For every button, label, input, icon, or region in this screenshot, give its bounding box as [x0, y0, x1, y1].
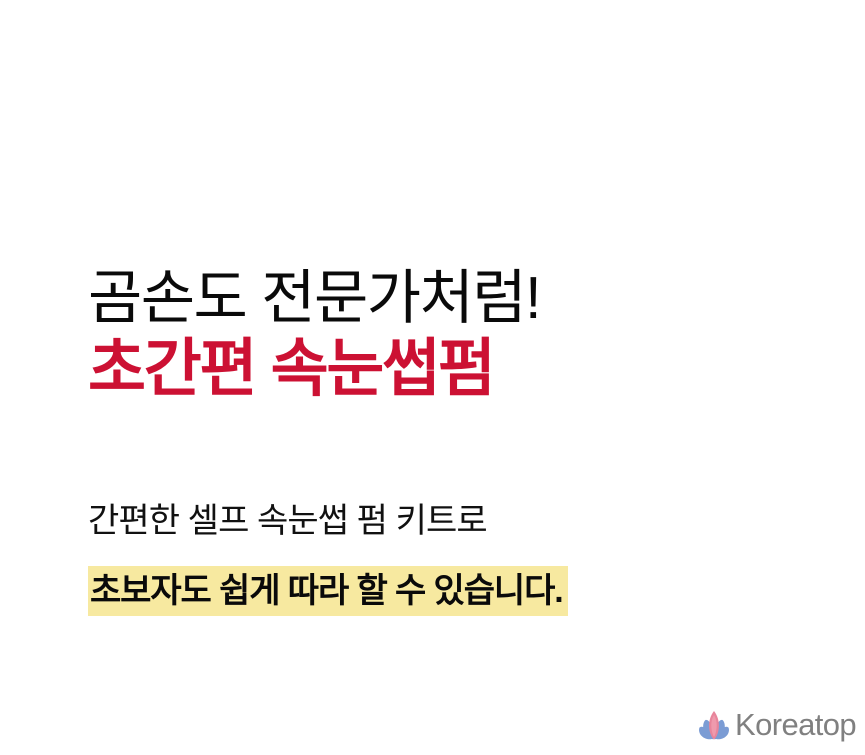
subtitle-line-1: 간편한 셀프 속눈썹 펌 키트로: [88, 500, 788, 543]
promo-canvas: 곰손도 전문가처럼! 초간편 속눈썹펌 간편한 셀프 속눈썹 펌 키트로 초보자…: [0, 0, 865, 755]
headline-line-1: 곰손도 전문가처럼!: [88, 268, 788, 328]
headline-block: 곰손도 전문가처럼! 초간편 속눈썹펌: [88, 268, 788, 403]
subtitle-line-2-wrapper: 초보자도 쉽게 따라 할 수 있습니다.: [88, 566, 788, 616]
footer-brand-logo: Koreatop: [697, 709, 856, 741]
subtitle-line-2-highlighted: 초보자도 쉽게 따라 할 수 있습니다.: [88, 566, 568, 616]
lotus-icon: [697, 709, 731, 741]
brand-wordmark: Koreatop: [735, 709, 856, 741]
subtitle-block: 간편한 셀프 속눈썹 펌 키트로 초보자도 쉽게 따라 할 수 있습니다.: [88, 500, 788, 616]
headline-line-2: 초간편 속눈썹펌: [88, 336, 788, 403]
